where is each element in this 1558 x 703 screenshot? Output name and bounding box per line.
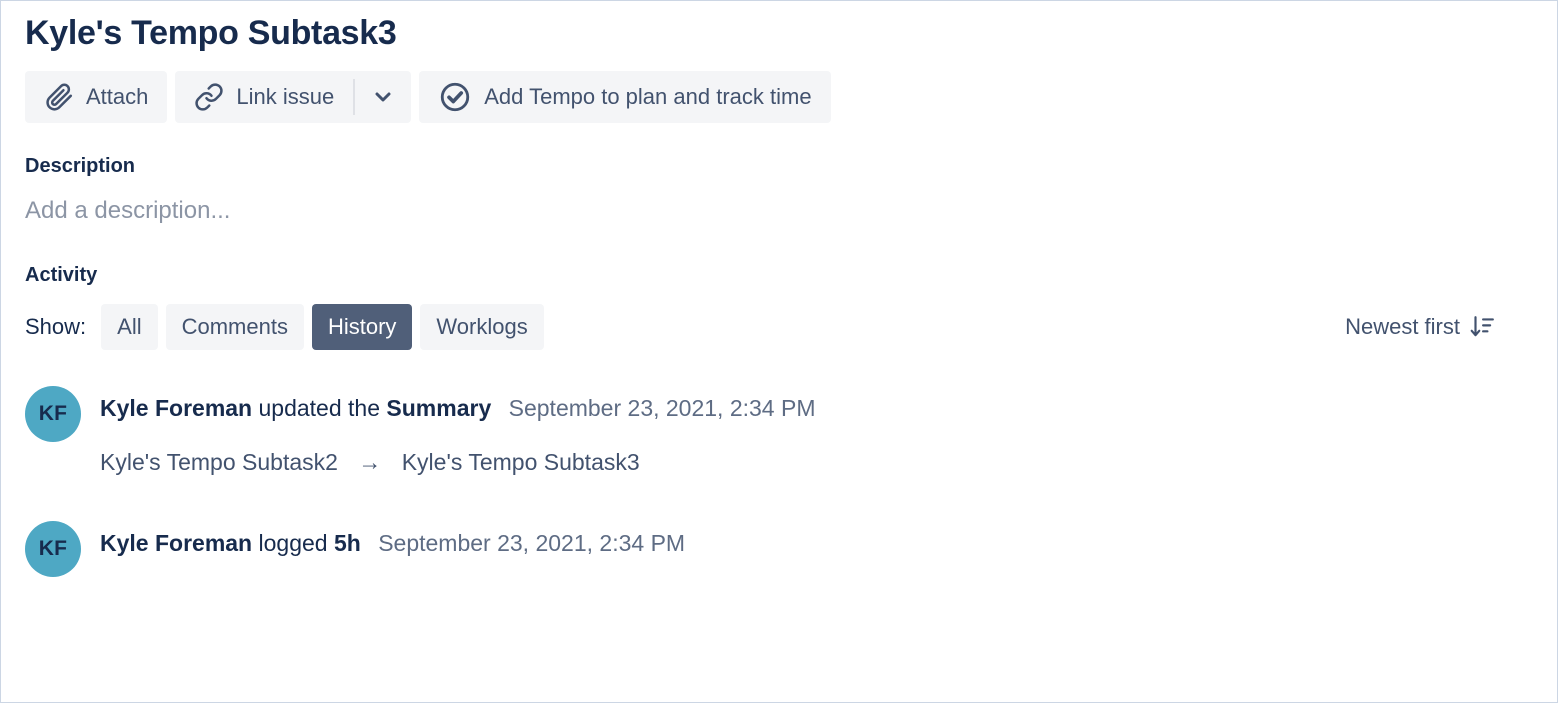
sort-order-button[interactable]: Newest first	[1345, 314, 1533, 340]
activity-heading: Activity	[25, 264, 1533, 287]
filter-worklogs[interactable]: Worklogs	[420, 304, 543, 350]
history-item-timestamp: September 23, 2021, 2:34 PM	[378, 530, 685, 556]
show-label: Show:	[25, 314, 86, 340]
sort-descending-icon	[1469, 314, 1495, 340]
history-item-verb: logged	[259, 530, 328, 556]
link-issue-button-label: Link issue	[236, 84, 334, 110]
history-item: KF Kyle Foreman updated the Summary Sept…	[25, 386, 1533, 477]
filter-all[interactable]: All	[101, 304, 157, 350]
history-item-timestamp: September 23, 2021, 2:34 PM	[509, 395, 816, 421]
add-tempo-button-label: Add Tempo to plan and track time	[484, 84, 811, 110]
chevron-down-icon	[371, 85, 395, 109]
activity-feed: KF Kyle Foreman updated the Summary Sept…	[25, 386, 1533, 577]
filter-history[interactable]: History	[312, 304, 412, 350]
description-heading: Description	[25, 155, 1533, 178]
history-item-actor[interactable]: Kyle Foreman	[100, 530, 252, 556]
activity-filter-bar: Show: All Comments History Worklogs Newe…	[25, 304, 1533, 350]
sort-order-label: Newest first	[1345, 314, 1460, 340]
arrow-right-icon: →	[358, 449, 381, 475]
history-item: KF Kyle Foreman logged 5h September 23, …	[25, 521, 1533, 577]
page-title[interactable]: Kyle's Tempo Subtask3	[25, 1, 1533, 57]
link-issue-split-button: Link issue	[175, 71, 411, 123]
history-item-change-from: Kyle's Tempo Subtask2	[100, 449, 338, 475]
link-icon	[194, 82, 224, 112]
attach-button[interactable]: Attach	[25, 71, 167, 123]
filter-comments[interactable]: Comments	[166, 304, 304, 350]
history-item-summary-line: Kyle Foreman logged 5h September 23, 202…	[100, 527, 685, 559]
activity-section: Activity Show: All Comments History Work…	[25, 264, 1533, 577]
history-item-body: Kyle Foreman logged 5h September 23, 202…	[100, 521, 685, 577]
history-item-field: 5h	[334, 530, 361, 556]
activity-filter-group: All Comments History Worklogs	[101, 304, 544, 350]
issue-action-toolbar: Attach Link issue	[25, 71, 1533, 123]
history-item-change: Kyle's Tempo Subtask2 → Kyle's Tempo Sub…	[100, 447, 816, 477]
paperclip-icon	[44, 82, 74, 112]
more-actions-button[interactable]	[355, 71, 411, 123]
avatar[interactable]: KF	[25, 521, 81, 577]
add-tempo-button[interactable]: Add Tempo to plan and track time	[419, 71, 830, 123]
description-input[interactable]: Add a description...	[25, 197, 1533, 225]
history-item-verb: updated the	[259, 395, 381, 421]
link-issue-button[interactable]: Link issue	[175, 71, 353, 123]
history-item-field: Summary	[386, 395, 491, 421]
history-item-summary-line: Kyle Foreman updated the Summary Septemb…	[100, 392, 816, 424]
history-item-change-to: Kyle's Tempo Subtask3	[402, 449, 640, 475]
check-circle-icon	[438, 80, 472, 114]
attach-button-label: Attach	[86, 84, 148, 110]
history-item-body: Kyle Foreman updated the Summary Septemb…	[100, 386, 816, 477]
history-item-actor[interactable]: Kyle Foreman	[100, 395, 252, 421]
avatar[interactable]: KF	[25, 386, 81, 442]
issue-detail-page: Kyle's Tempo Subtask3 Attach	[0, 0, 1558, 703]
description-section: Description Add a description...	[25, 155, 1533, 225]
